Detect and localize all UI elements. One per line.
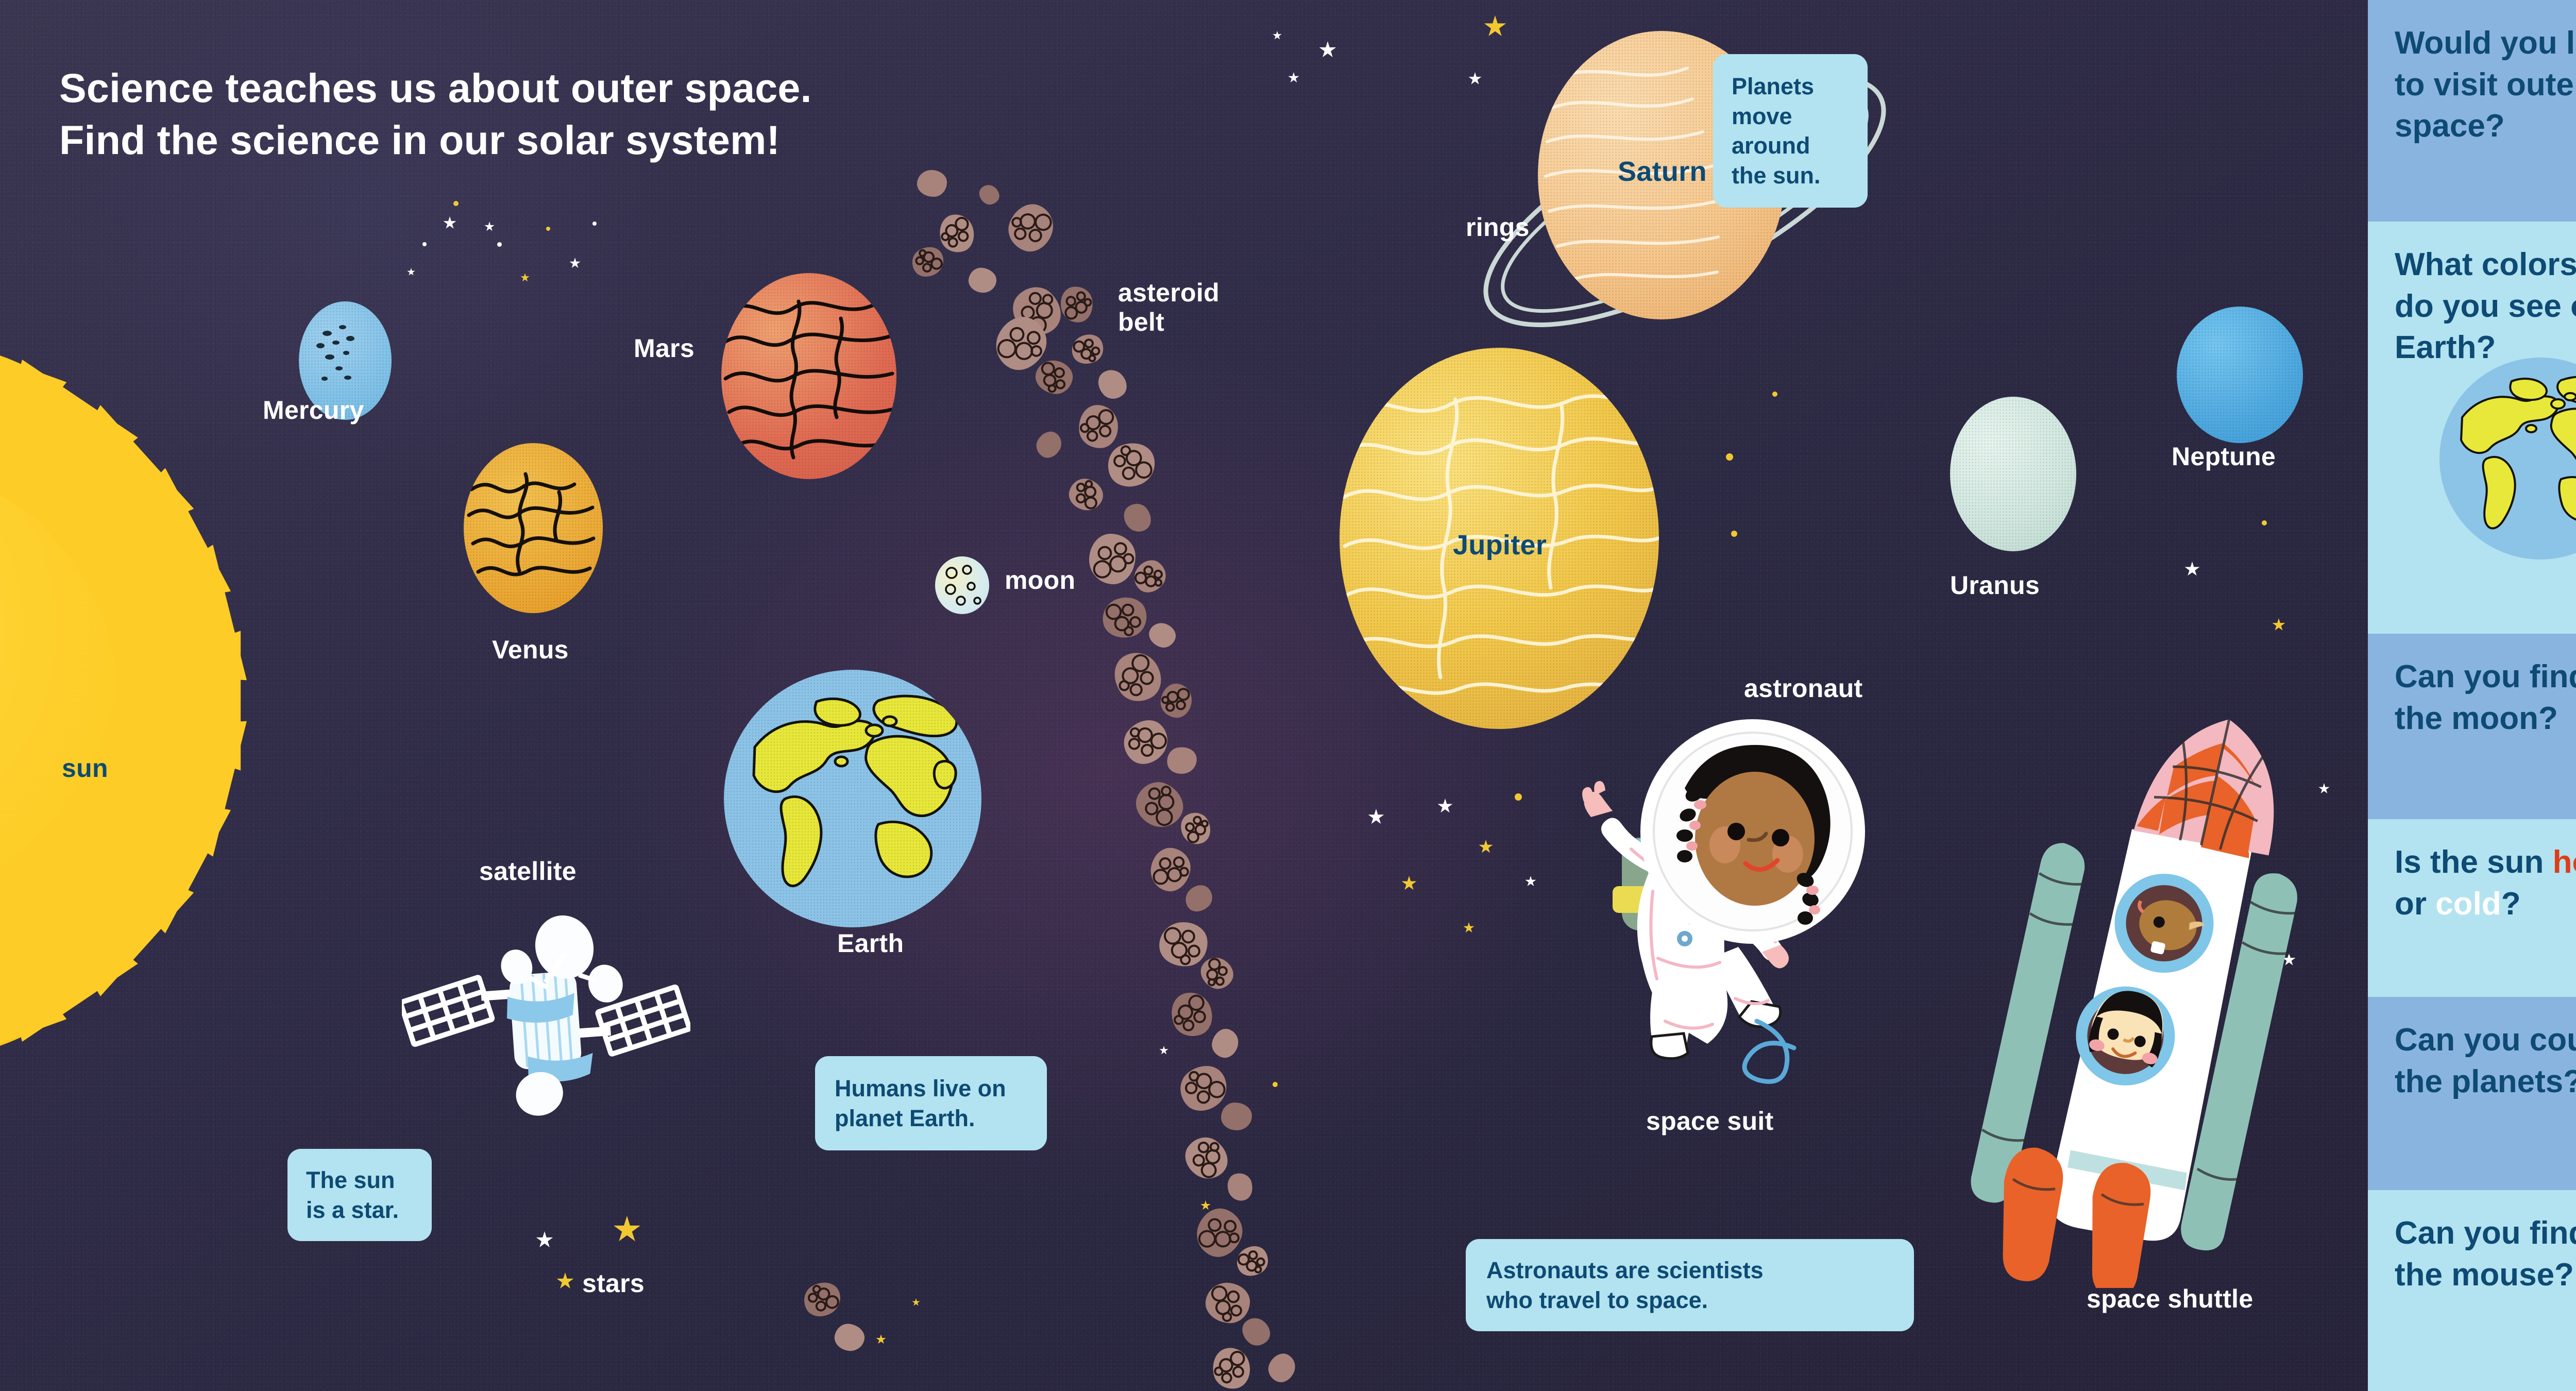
- star-dot: [1772, 392, 1777, 397]
- asteroid: [833, 1322, 867, 1353]
- earth-globe-icon: [2437, 355, 2576, 562]
- asteroid: [1205, 1282, 1251, 1324]
- star-dot: [1273, 1082, 1278, 1087]
- star: [556, 1273, 574, 1290]
- asteroid: [1209, 1026, 1241, 1060]
- star-dot: [422, 242, 427, 246]
- star: [1463, 922, 1475, 934]
- label-asteroid-belt: asteroid belt: [1118, 278, 1219, 337]
- asteroid: [1002, 198, 1059, 258]
- planet-mars: [721, 273, 896, 479]
- space-shuttle-graphic: [1968, 706, 2368, 1288]
- sun-disc: [0, 345, 196, 1056]
- star: [1288, 72, 1299, 83]
- star: [520, 273, 530, 282]
- star: [912, 1298, 920, 1307]
- asteroid: [1209, 1344, 1254, 1391]
- star: [613, 1216, 641, 1244]
- sidebar-question-panel-4[interactable]: Is the sun hot or cold?: [2368, 819, 2576, 997]
- asteroid: [1032, 427, 1066, 462]
- sidebar-question-text: Would you like to visit outer space?: [2395, 23, 2576, 147]
- moon-graphic: [935, 556, 989, 614]
- asteroid: [1097, 592, 1151, 643]
- sidebar-question-panel-2[interactable]: What colors do you see on Earth?: [2368, 222, 2576, 634]
- label-neptune: Neptune: [2172, 443, 2276, 470]
- planet-earth: [724, 670, 981, 927]
- callout-astronauts-scientists: Astronauts are scientists who travel to …: [1466, 1239, 1914, 1331]
- star: [1273, 31, 1282, 40]
- sun-graphic: [0, 273, 299, 1128]
- asteroid: [917, 170, 947, 197]
- star: [407, 268, 415, 276]
- sidebar-question-text: What colors do you see on Earth?: [2395, 244, 2576, 369]
- label-venus: Venus: [492, 636, 569, 664]
- question-word: ?: [2501, 886, 2521, 922]
- space-illustration-page: Science teaches us about outer space. Fi…: [0, 0, 2576, 1391]
- asteroid: [1065, 475, 1106, 514]
- label-uranus: Uranus: [1950, 572, 2040, 599]
- page-title: Science teaches us about outer space. Fi…: [59, 62, 812, 166]
- sidebar-question-panel-3[interactable]: Can you find the moon?: [2368, 634, 2576, 819]
- star-dot: [592, 222, 597, 226]
- label-moon: moon: [1005, 567, 1075, 594]
- label-mars: Mars: [634, 335, 694, 362]
- label-space-shuttle: space shuttle: [2087, 1285, 2253, 1313]
- star-dot: [497, 242, 502, 247]
- star: [569, 258, 581, 269]
- callout-planets-orbit: Planets move around the sun.: [1713, 54, 1868, 208]
- sidebar-question-text: Can you find the mouse?: [2395, 1213, 2576, 1296]
- star: [1479, 840, 1493, 854]
- question-word: Is the sun: [2395, 844, 2553, 880]
- asteroid: [1077, 403, 1120, 450]
- question-word: cold: [2435, 886, 2501, 922]
- label-sun: sun: [62, 755, 108, 782]
- star-dot: [1515, 793, 1522, 801]
- asteroid: [1224, 1170, 1256, 1204]
- star: [1159, 1046, 1168, 1055]
- asteroid: [1160, 683, 1193, 719]
- asteroid: [1092, 364, 1132, 404]
- sidebar-question-panel-6[interactable]: Can you find the mouse?: [2368, 1190, 2576, 1391]
- star-dot: [2262, 520, 2267, 525]
- asteroid: [1058, 284, 1096, 326]
- question-word: or: [2395, 886, 2435, 922]
- asteroid: [1264, 1349, 1299, 1386]
- planet-neptune: [2177, 307, 2303, 443]
- star: [1437, 799, 1453, 814]
- star-dot: [546, 227, 550, 231]
- asteroid: [968, 267, 997, 294]
- label-satellite: satellite: [479, 858, 577, 885]
- star: [1319, 41, 1336, 59]
- star: [536, 1231, 553, 1249]
- label-earth: Earth: [837, 930, 904, 957]
- asteroid: [1157, 920, 1210, 970]
- asteroid: [1164, 986, 1218, 1043]
- star: [1368, 809, 1384, 825]
- label-stars: stars: [582, 1270, 645, 1297]
- star-dot: [1731, 531, 1737, 537]
- label-rings: rings: [1466, 214, 1530, 241]
- label-mercury: Mercury: [263, 397, 364, 424]
- sidebar-question-panel-1[interactable]: Would you like to visit outer space?: [2368, 0, 2576, 222]
- label-jupiter: Jupiter: [1453, 531, 1547, 560]
- star: [2184, 562, 2200, 577]
- asteroid: [935, 210, 978, 256]
- star-dot: [1726, 453, 1733, 461]
- asteroid: [1221, 1102, 1252, 1131]
- star: [443, 216, 456, 230]
- asteroid: [798, 1276, 846, 1323]
- sidebar-question-text: Can you find the moon?: [2395, 656, 2576, 739]
- planet-venus: [464, 443, 603, 613]
- asteroid: [1178, 1130, 1235, 1186]
- star: [1401, 876, 1417, 891]
- star: [484, 222, 495, 232]
- sidebar-question-text: Can you count the planets?: [2395, 1020, 2576, 1102]
- asteroid: [1033, 358, 1075, 397]
- asteroid: [975, 181, 1003, 209]
- label-astronaut: astronaut: [1744, 675, 1863, 702]
- callout-sun-is-star: The sun is a star.: [287, 1149, 432, 1241]
- label-space-suit: space suit: [1646, 1108, 1774, 1135]
- asteroid: [1164, 744, 1199, 777]
- star: [2272, 618, 2285, 632]
- astronaut-graphic: [1530, 716, 1922, 1128]
- asteroid: [1148, 845, 1193, 894]
- label-saturn: Saturn: [1618, 157, 1707, 186]
- asteroid: [1089, 533, 1136, 585]
- asteroid: [1146, 619, 1179, 651]
- satellite-graphic: [402, 907, 690, 1128]
- callout-humans-earth: Humans live on planet Earth.: [815, 1056, 1047, 1150]
- star: [876, 1334, 886, 1345]
- question-sidebar: Would you like to visit outer space?What…: [2368, 0, 2576, 1391]
- asteroid: [1118, 499, 1157, 537]
- sidebar-question-text: Is the sun hot or cold?: [2395, 842, 2576, 925]
- question-word: hot: [2553, 844, 2576, 880]
- star-dot: [453, 201, 459, 206]
- space-scene: Science teaches us about outer space. Fi…: [0, 0, 2368, 1391]
- sidebar-question-panel-5[interactable]: Can you count the planets?: [2368, 997, 2576, 1190]
- planet-uranus: [1950, 397, 2076, 551]
